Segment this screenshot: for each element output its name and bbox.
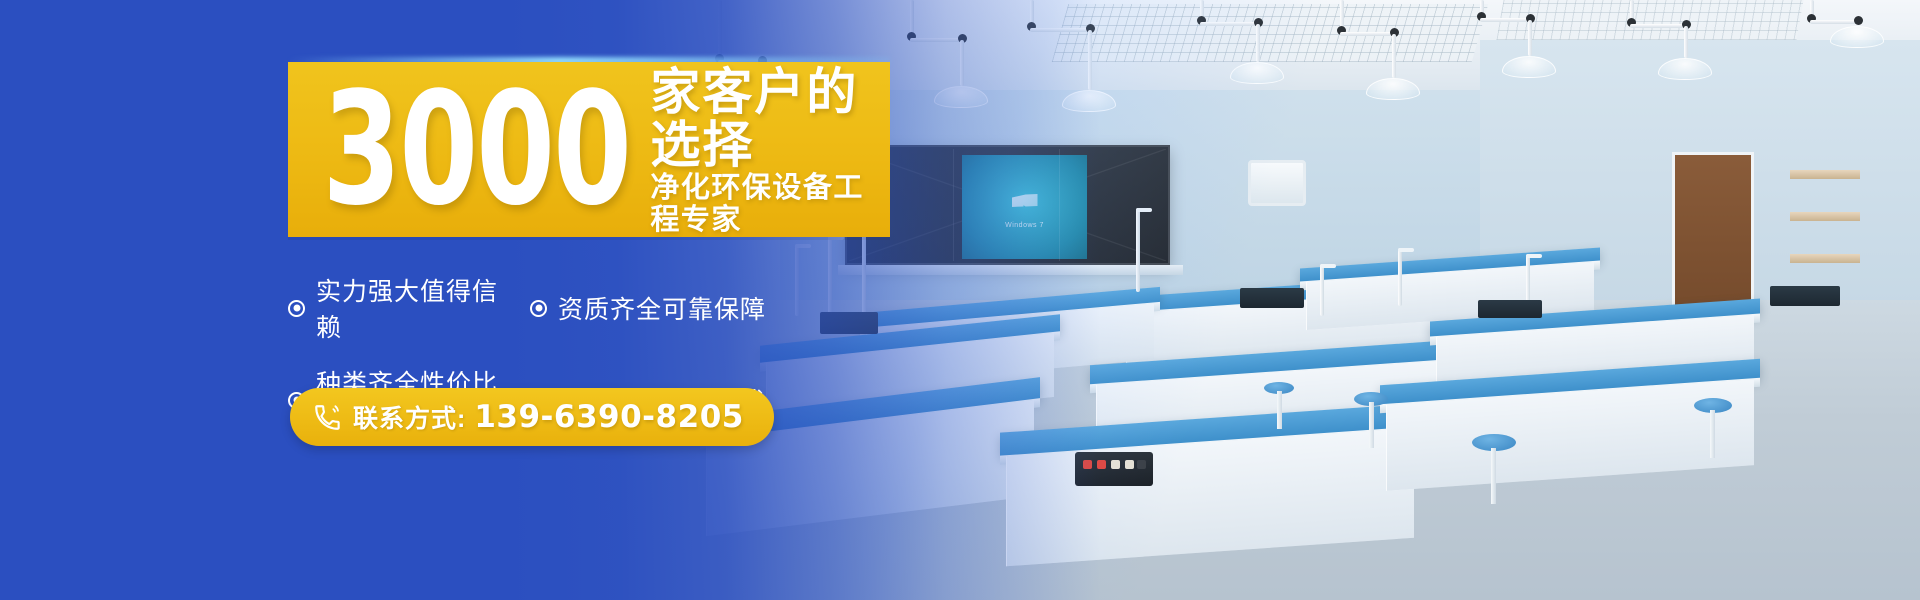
lab-stool-leg [1710, 410, 1715, 458]
lab-stool-leg [1369, 402, 1374, 448]
phone-icon [314, 404, 341, 431]
wall-shelf-1 [1790, 170, 1860, 179]
bench-sink [1770, 286, 1840, 306]
bench-sink [1478, 300, 1542, 318]
headline-text-stack: 家客户的选择 净化环保设备工程专家 [650, 66, 890, 237]
feature-item-1: 实力强大值得信赖 [288, 272, 510, 344]
circle-dot-icon [530, 300, 547, 317]
feature-label: 实力强大值得信赖 [316, 272, 510, 344]
headline-block: 3000 家客户的选择 净化环保设备工程专家 [288, 62, 890, 237]
bench-tap [1398, 248, 1402, 306]
bench-tap-head [1136, 208, 1152, 212]
ceiling-grid-panel [1052, 4, 1489, 62]
bench-tap [1136, 208, 1140, 292]
contact-pill[interactable]: 联系方式: 139-6390-8205 [290, 388, 774, 446]
bench-tap-head [1320, 264, 1336, 268]
lab-stool-leg [1277, 391, 1282, 429]
promo-banner: Windows 7 [0, 0, 1920, 600]
bench-sink [1240, 288, 1304, 308]
headline-number: 3000 [322, 81, 630, 218]
feature-item-2: 资质齐全可靠保障 [530, 272, 766, 344]
lab-stool-leg [1491, 448, 1496, 504]
bench-tap-head [1526, 254, 1542, 258]
wall-clock [1248, 160, 1306, 206]
contact-number: 139-6390-8205 [474, 399, 744, 435]
wall-shelf-2 [1790, 212, 1860, 221]
bench-tap-head [1398, 248, 1414, 252]
bench-tap [1320, 264, 1324, 316]
banner-content: 3000 家客户的选择 净化环保设备工程专家 实力强大值得信赖 资质齐全可靠保障… [0, 0, 1100, 600]
feature-label: 资质齐全可靠保障 [558, 290, 766, 326]
wall-shelf-3 [1790, 254, 1860, 263]
headline-line-2: 净化环保设备工程专家 [650, 173, 890, 237]
headline-line-1: 家客户的选择 [650, 66, 890, 171]
ceiling-grid-panel-2 [1496, 0, 1803, 40]
circle-dot-icon [288, 300, 305, 317]
contact-label: 联系方式: [353, 399, 466, 435]
